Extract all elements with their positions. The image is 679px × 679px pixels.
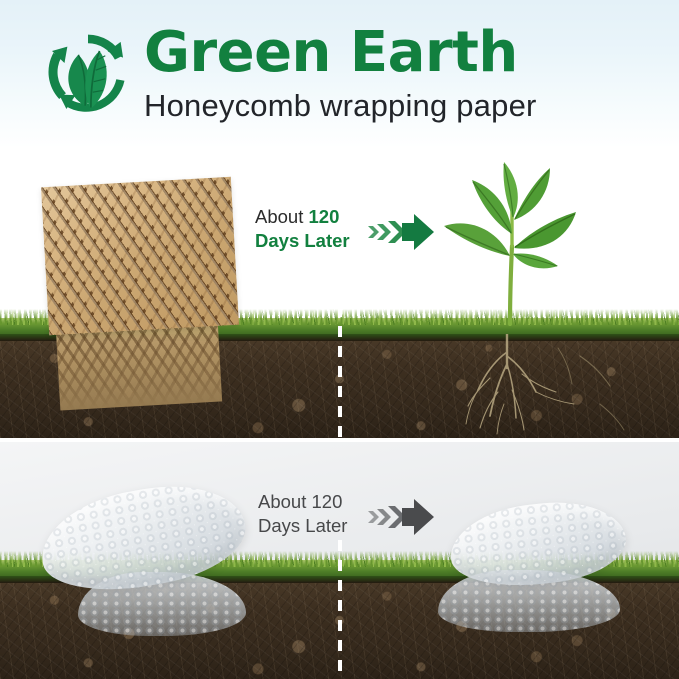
brand-header: Green Earth Honeycomb wrapping paper xyxy=(0,0,679,148)
caption-top-days-number: 120 xyxy=(309,206,340,227)
seedling-roots xyxy=(460,334,635,438)
caption-top-prefix: About xyxy=(255,206,309,227)
brand-text-block: Green Earth Honeycomb wrapping paper xyxy=(144,23,537,124)
caption-bottom-line1: About 120 xyxy=(258,490,347,514)
caption-bottom-line2: Days Later xyxy=(258,514,347,538)
honeycomb-kraft-paper-sheet xyxy=(41,177,239,335)
green-seedling-plant xyxy=(440,156,620,326)
page-title: Green Earth xyxy=(144,25,537,81)
caption-bottom-panel: About 120 Days Later xyxy=(258,490,347,538)
dashed-vertical-divider-top xyxy=(338,286,342,438)
panel-plastic-persists: About 120 Days Later xyxy=(0,442,679,679)
panel-paper-biodegrades: About 120 Days Later xyxy=(0,148,679,438)
chevron-arrow-right-icon xyxy=(366,212,436,252)
caption-top-line1: About 120 xyxy=(255,205,350,229)
caption-top-panel: About 120 Days Later xyxy=(255,205,350,253)
dashed-vertical-divider-bottom xyxy=(338,540,342,679)
caption-top-line2: Days Later xyxy=(255,229,350,253)
recycling-leaves-icon xyxy=(40,26,136,122)
chevron-arrow-right-icon-gray xyxy=(366,497,436,537)
infographic-root: Green Earth Honeycomb wrapping paper xyxy=(0,0,679,679)
page-subtitle: Honeycomb wrapping paper xyxy=(144,87,537,124)
